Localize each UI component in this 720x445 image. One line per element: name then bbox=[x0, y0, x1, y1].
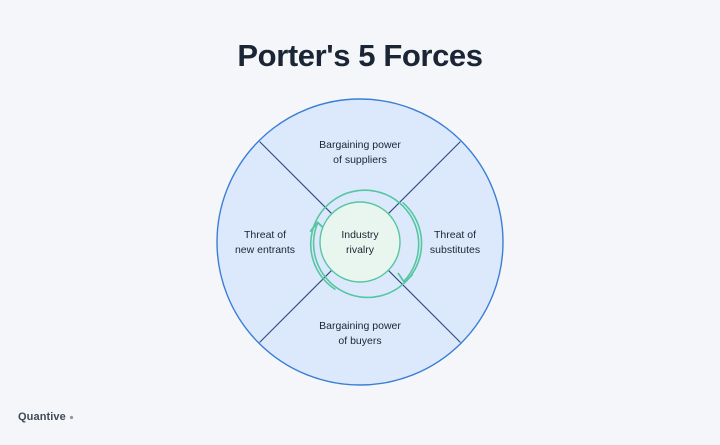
brand-dot-icon bbox=[69, 415, 74, 420]
brand-logo: Quantive bbox=[18, 411, 74, 423]
slide-canvas: Porter's 5 Forces Bargaining power of su… bbox=[0, 0, 720, 445]
porters-five-forces-diagram bbox=[0, 0, 720, 445]
brand-name: Quantive bbox=[18, 411, 66, 423]
inner-circle bbox=[320, 202, 400, 282]
